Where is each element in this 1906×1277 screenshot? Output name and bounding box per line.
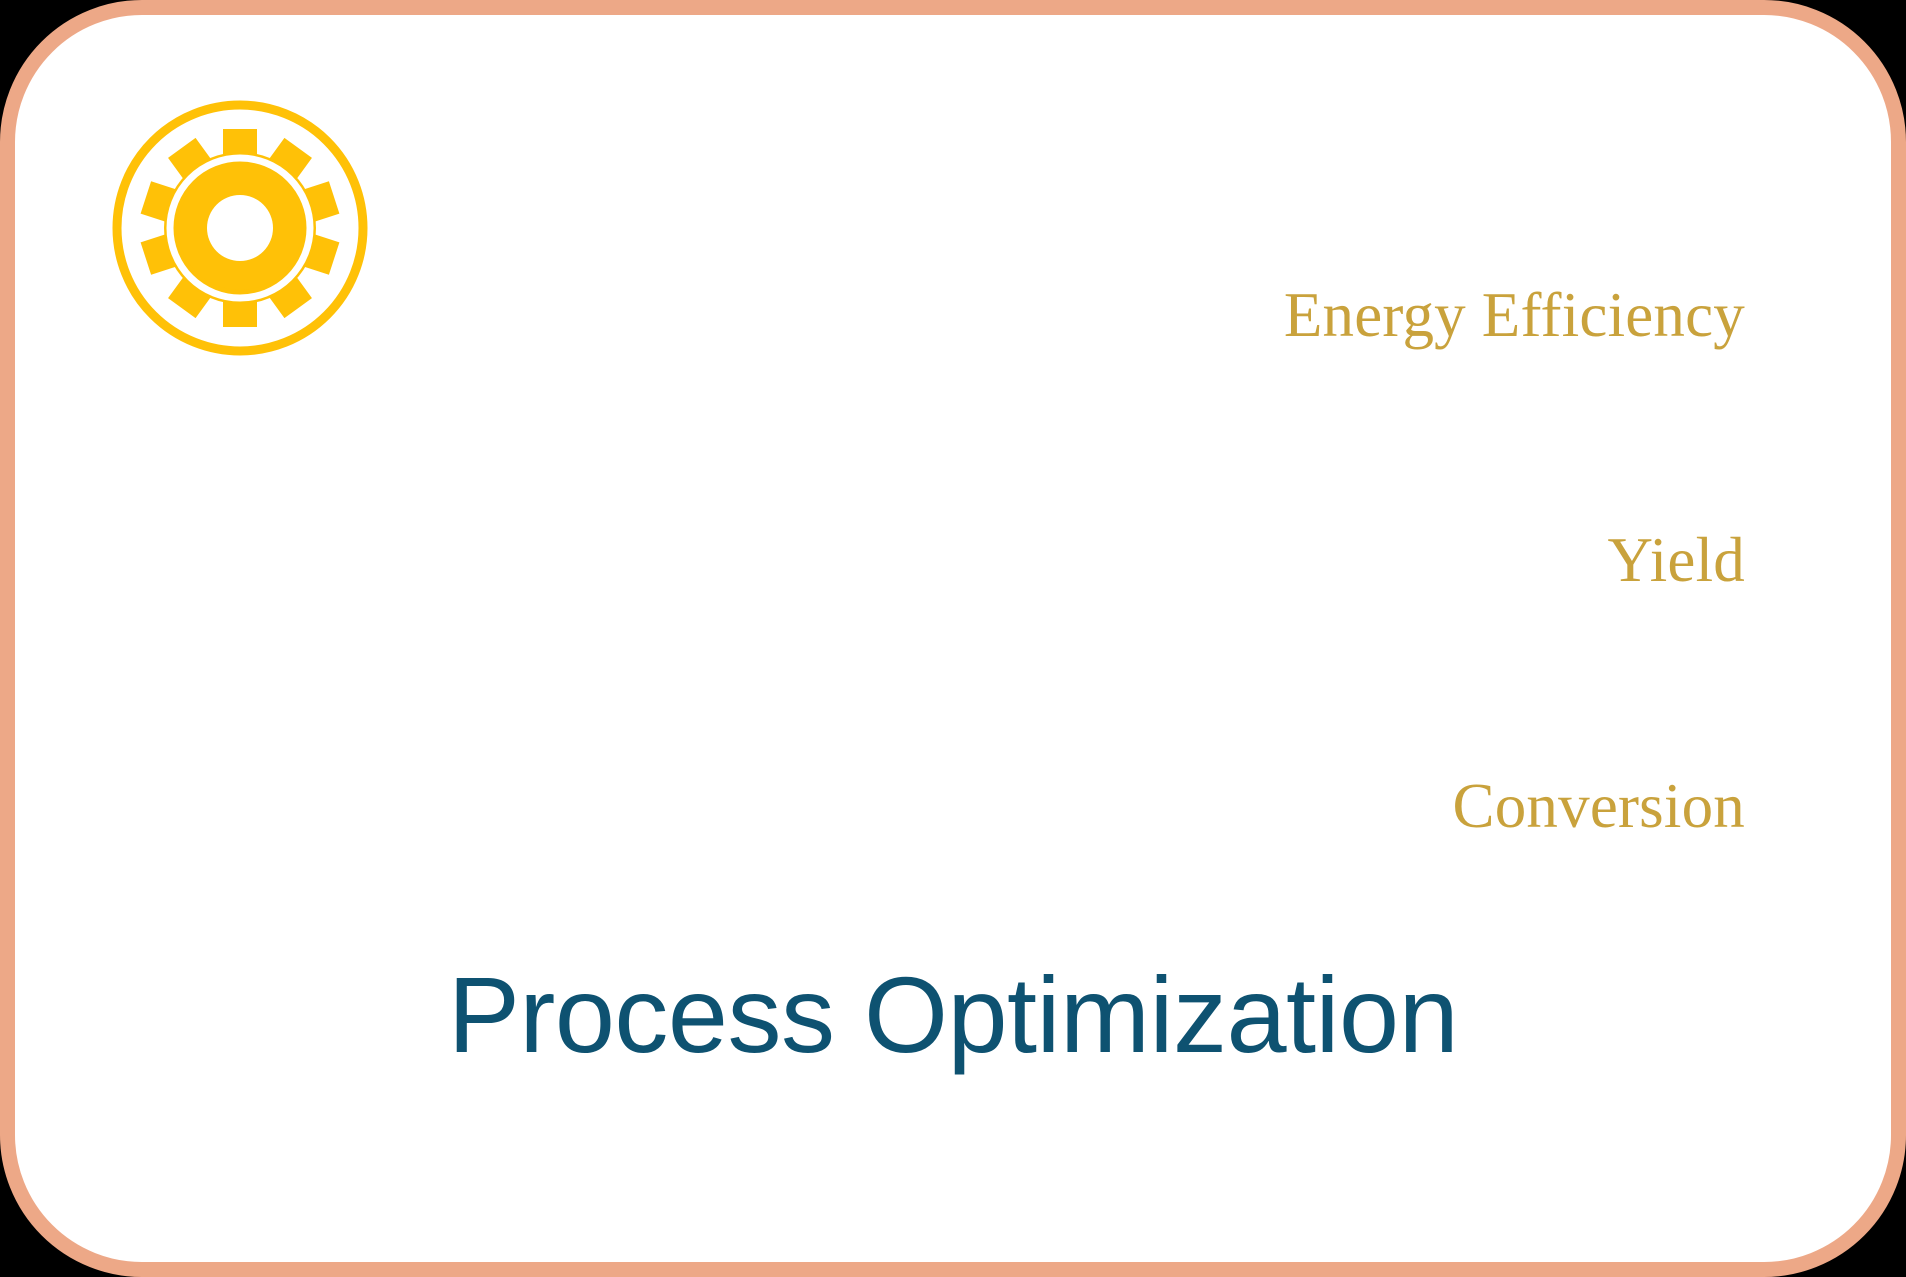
gear-icon: [108, 97, 372, 359]
metric-item-conversion: Conversion: [845, 766, 1745, 848]
metric-item-yield: Yield: [845, 520, 1745, 602]
gear-center-hole-icon: [207, 195, 273, 261]
process-optimization-card: Energy Efficiency Yield Conversion Proce…: [0, 0, 1906, 1277]
metric-item-energy-efficiency: Energy Efficiency: [845, 275, 1745, 357]
metrics-list: Energy Efficiency Yield Conversion: [845, 111, 1745, 1012]
page-title: Process Optimization: [15, 953, 1891, 1077]
